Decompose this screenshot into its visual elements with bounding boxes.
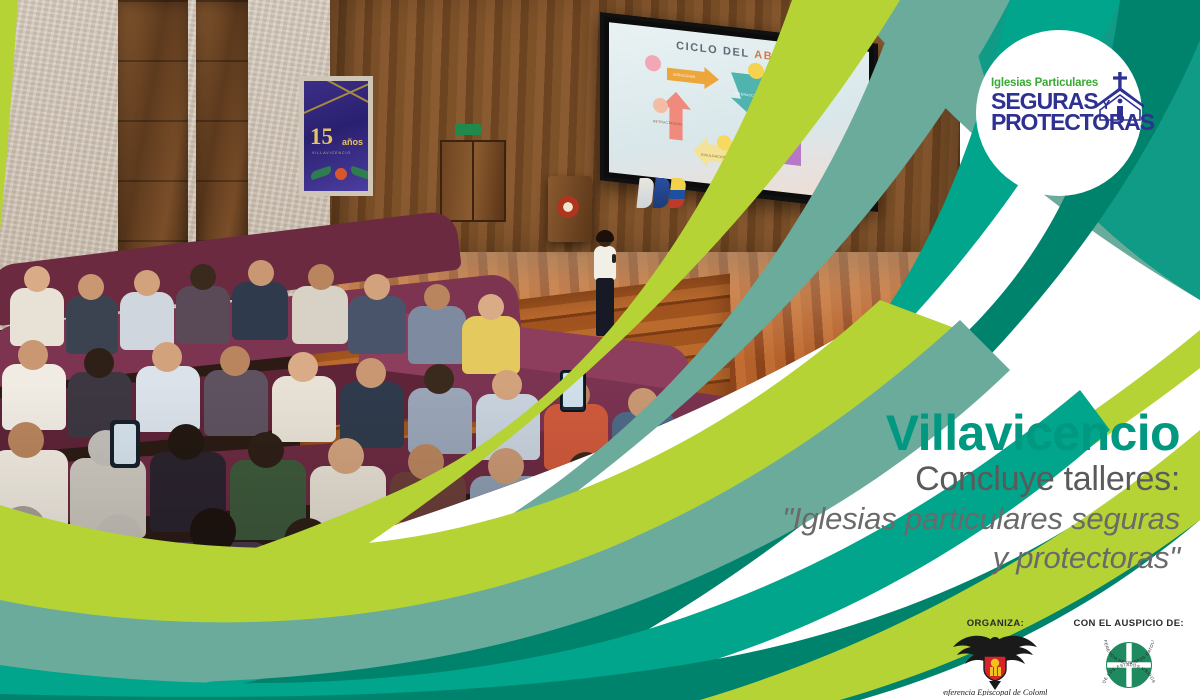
headline-subtitle: Concluye talleres: bbox=[660, 461, 1180, 498]
headline-quote-line-1: "Iglesias particulares seguras bbox=[660, 502, 1180, 537]
sponsor-auspicio: CON EL AUSPICIO DE: CONFERENCIA DE OBISP… bbox=[1073, 618, 1184, 696]
poster-canvas: 15 años VILLAVICENCIO CICLO DEL ABUSO bbox=[0, 0, 1200, 700]
sponsor-label-auspicio: CON EL AUSPICIO DE: bbox=[1073, 618, 1184, 629]
sponsor-logo-caption: Conferencia Episcopal de Colombia bbox=[943, 688, 1047, 696]
headline-quote-line-2: y protectoras" bbox=[660, 541, 1180, 576]
sponsor-organiza: ORGANIZA: Conferencia Episcopal de Colom… bbox=[943, 618, 1047, 696]
usccb-conferencia-obispos-catolicos-estados-unidos-logo: CONFERENCIA DE OBISPOS CATOLICOS DE LOS … bbox=[1098, 634, 1160, 696]
church-with-cross-icon bbox=[1093, 72, 1149, 122]
page-title-city: Villavicencio bbox=[660, 408, 1180, 459]
brand-logo: Iglesias Particulares SEGURAS Y PROTECTO… bbox=[955, 38, 1165, 188]
sponsor-label-organiza: ORGANIZA: bbox=[967, 618, 1024, 629]
sponsors-block: ORGANIZA: Conferencia Episcopal de Colom… bbox=[943, 618, 1184, 696]
conferencia-episcopal-de-colombia-logo: Conferencia Episcopal de Colombia bbox=[943, 634, 1047, 696]
headline-block: Villavicencio Concluye talleres: "Iglesi… bbox=[660, 408, 1180, 576]
